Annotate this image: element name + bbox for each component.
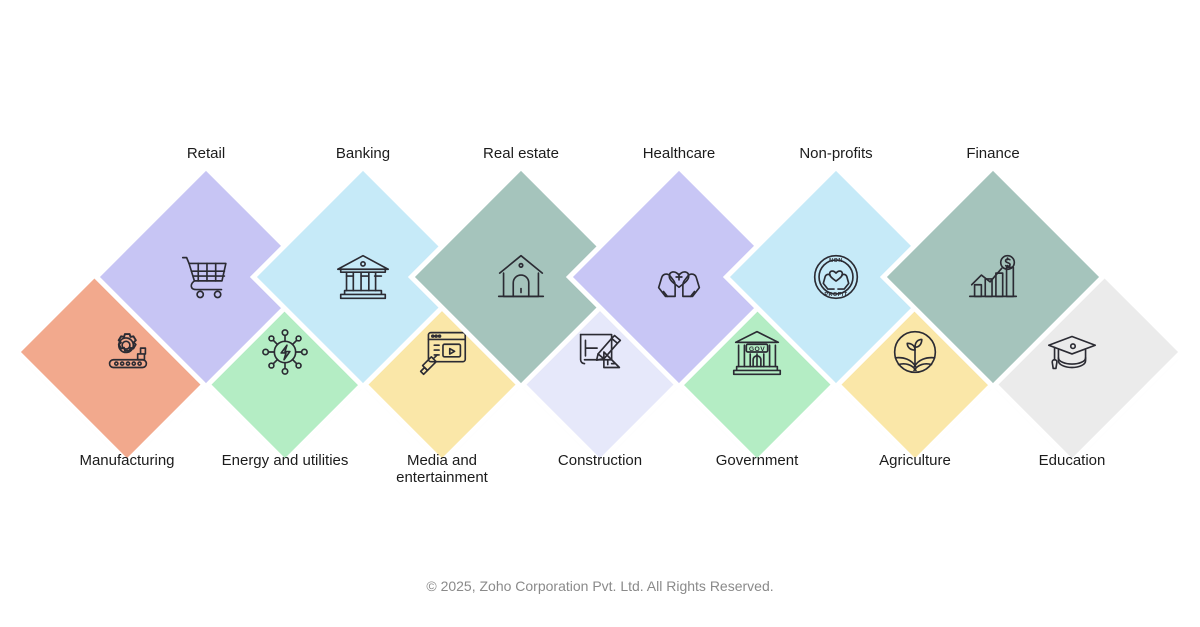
industry-label: Retail xyxy=(121,145,291,162)
gear-conveyor-icon xyxy=(96,321,158,383)
plant-field-icon xyxy=(884,321,946,383)
heart-in-hands-icon xyxy=(648,246,710,308)
industry-label: Manufacturing xyxy=(42,452,212,469)
industry-label: Education xyxy=(987,452,1157,469)
blueprint-icon xyxy=(569,321,631,383)
industry-label: Media and entertainment xyxy=(357,452,527,486)
industry-label: Healthcare xyxy=(594,145,764,162)
svg-text:GOV: GOV xyxy=(749,346,765,353)
bank-building-icon xyxy=(332,246,394,308)
industry-label: Non-profits xyxy=(751,145,921,162)
industry-label: Finance xyxy=(908,145,1078,162)
energy-bolt-icon xyxy=(254,321,316,383)
gov-building-icon: GOV xyxy=(726,321,788,383)
svg-text:PROFIT: PROFIT xyxy=(824,292,847,298)
graduation-cap-icon xyxy=(1041,321,1103,383)
industry-label: Construction xyxy=(515,452,685,469)
shopping-cart-icon xyxy=(175,246,237,308)
house-icon xyxy=(490,246,552,308)
svg-text:NON: NON xyxy=(829,258,843,264)
media-player-icon xyxy=(411,321,473,383)
industry-label: Real estate xyxy=(436,145,606,162)
industries-diagram: NON PROFIT xyxy=(0,0,1200,627)
copyright-footer: © 2025, Zoho Corporation Pvt. Ltd. All R… xyxy=(0,578,1200,594)
industry-label: Government xyxy=(672,452,842,469)
industry-label: Agriculture xyxy=(830,452,1000,469)
growth-chart-icon xyxy=(962,246,1024,308)
non-profit-badge-icon: NON PROFIT xyxy=(805,246,867,308)
industry-label: Energy and utilities xyxy=(200,452,370,469)
industry-label: Banking xyxy=(278,145,448,162)
